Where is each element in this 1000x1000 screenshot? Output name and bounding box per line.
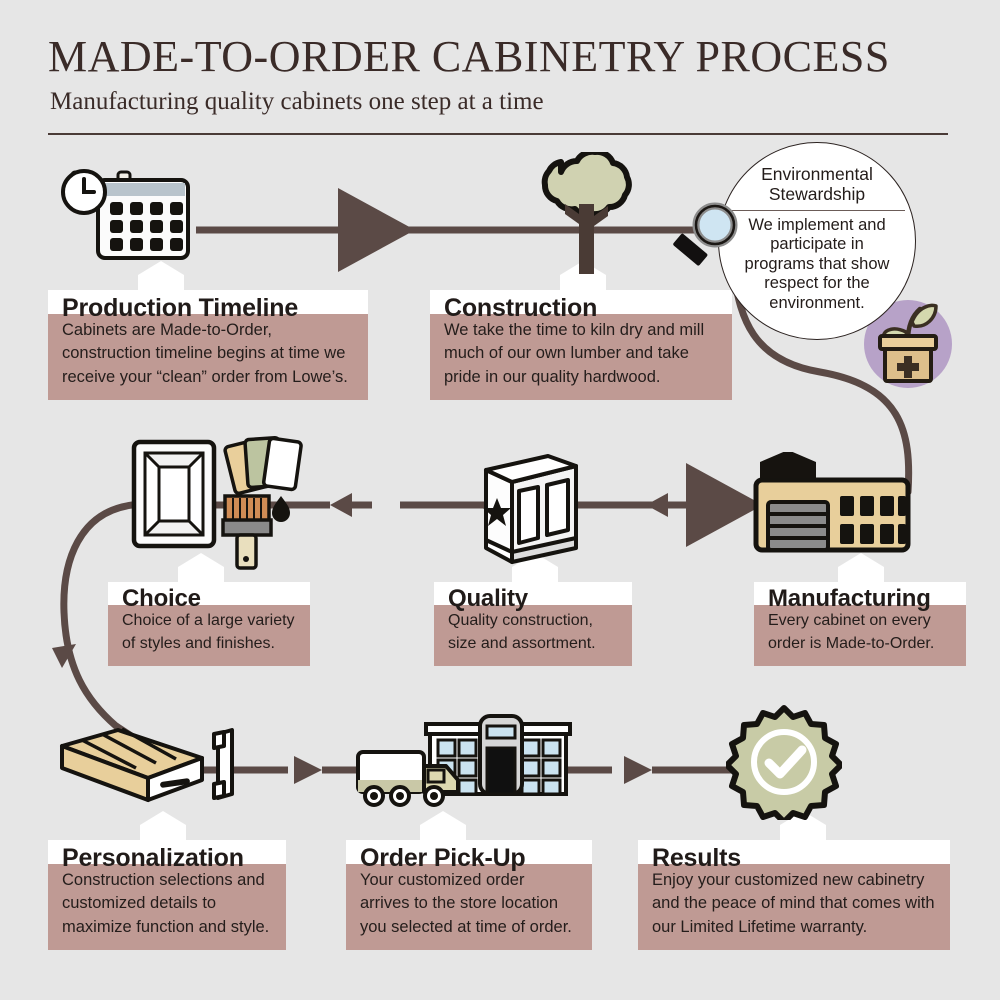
card-construction: Construction We take the time to kiln dr… (430, 290, 732, 400)
card-personalization: Personalization Construction selections … (48, 840, 286, 950)
factory-icon (748, 452, 918, 561)
card-text: Every cabinet on every order is Made-to-… (768, 610, 952, 655)
card-title: Manufacturing (768, 586, 952, 613)
card-body: We take the time to kiln dry and mill mu… (430, 314, 732, 400)
card-body: Your customized order arrives to the sto… (346, 864, 592, 950)
card-body: Construction selections and customized d… (48, 864, 286, 950)
drawer-handle-icon (56, 716, 256, 821)
tree-icon (527, 152, 645, 281)
card-results: Results Enjoy your customized new cabine… (638, 840, 950, 950)
card-production-timeline: Production Timeline Cabinets are Made-to… (48, 290, 368, 400)
infographic-canvas: MADE-TO-ORDER CABINETRY PROCESS Manufact… (0, 0, 1000, 1000)
card-body: Choice of a large variety of styles and … (108, 605, 310, 666)
card-pointer (140, 825, 186, 841)
environmental-stewardship-callout: Environmental Stewardship We implement a… (718, 142, 916, 340)
card-body: Every cabinet on every order is Made-to-… (754, 605, 966, 666)
card-text: Cabinets are Made-to-Order, construction… (62, 319, 354, 389)
card-pointer (420, 825, 466, 841)
card-title: Personalization (62, 844, 272, 872)
card-text: Construction selections and customized d… (62, 869, 272, 939)
card-text: Quality construction, size and assortmen… (448, 610, 618, 655)
card-pointer (838, 567, 884, 583)
calendar-clock-icon (60, 158, 210, 275)
card-pointer (780, 825, 826, 841)
card-body: Quality construction, size and assortmen… (434, 605, 632, 666)
card-manufacturing: Manufacturing Every cabinet on every ord… (754, 582, 966, 666)
magnifier-icon (668, 198, 746, 285)
card-pointer (138, 275, 184, 291)
card-text: Enjoy your customized new cabinetry and … (652, 869, 936, 939)
cabinet-icon (476, 444, 592, 571)
card-quality: Quality Quality construction, size and a… (434, 582, 632, 666)
door-swatches-brush-icon (126, 424, 306, 575)
callout-title: Environmental Stewardship (719, 143, 915, 205)
truck-store-icon (356, 708, 572, 817)
card-order-pick-up: Order Pick-Up Your customized order arri… (346, 840, 592, 950)
card-text: Your customized order arrives to the sto… (360, 869, 578, 939)
callout-body: We implement and participate in programs… (719, 211, 915, 313)
card-text: We take the time to kiln dry and mill mu… (444, 319, 718, 389)
card-choice: Choice Choice of a large variety of styl… (108, 582, 310, 666)
card-text: Choice of a large variety of styles and … (122, 610, 296, 655)
card-body: Enjoy your customized new cabinetry and … (638, 864, 950, 950)
card-body: Cabinets are Made-to-Order, construction… (48, 314, 368, 400)
check-seal-icon (726, 704, 842, 825)
